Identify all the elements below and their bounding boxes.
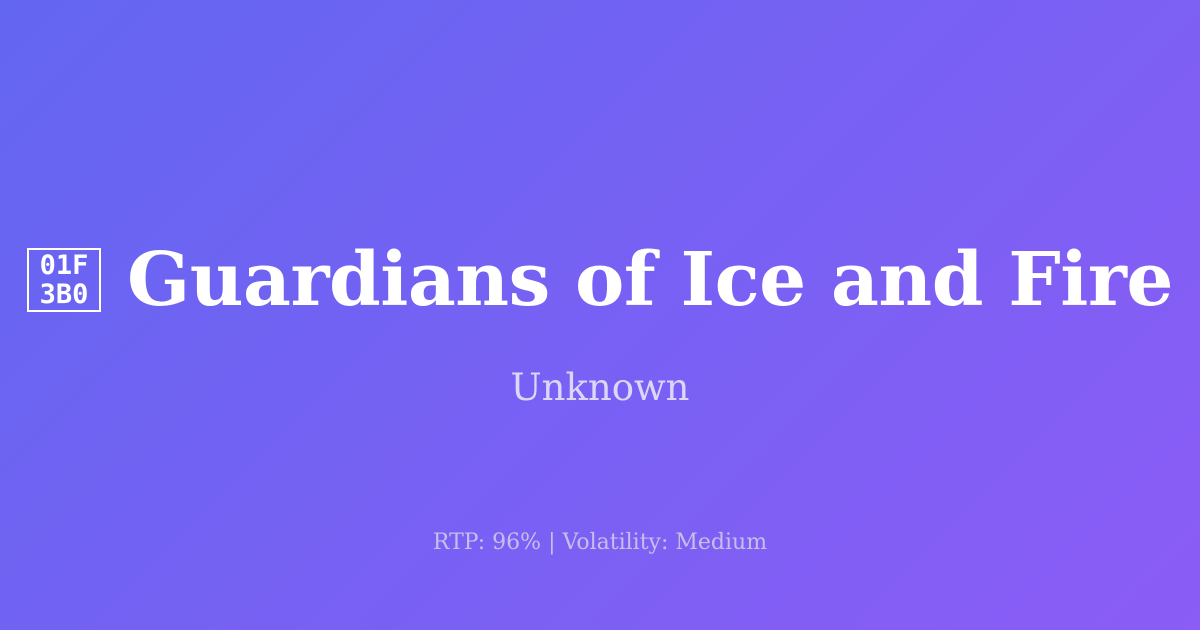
title-row: 01F 3B0 Guardians of Ice and Fire xyxy=(0,232,1200,328)
game-meta-line: RTP: 96% | Volatility: Medium xyxy=(0,528,1200,557)
tofu-codepoint-line2: 3B0 xyxy=(40,280,89,309)
slot-machine-icon: 01F 3B0 xyxy=(27,248,101,312)
page-title: Guardians of Ice and Fire xyxy=(127,237,1173,323)
tofu-codepoint-line1: 01F xyxy=(40,251,89,280)
page-subtitle: Unknown xyxy=(0,365,1200,411)
og-share-card: 01F 3B0 Guardians of Ice and Fire Unknow… xyxy=(0,0,1200,630)
